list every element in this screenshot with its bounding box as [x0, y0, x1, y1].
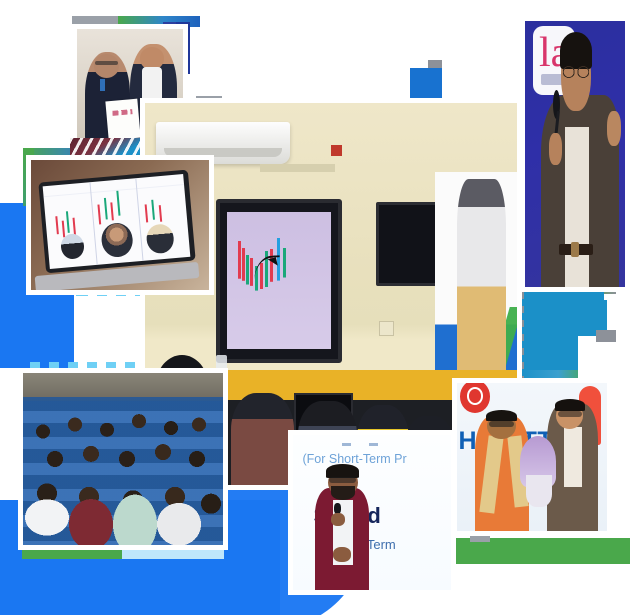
bouquet-wrapping [526, 475, 552, 508]
speaker-glasses [563, 64, 589, 80]
deco-gray-chip-right [596, 330, 616, 342]
photo-stage-speaker: la [520, 16, 630, 292]
speaker-hand-mic [549, 133, 562, 165]
award-recipient-hair [486, 410, 518, 422]
duo-lanyard [100, 79, 104, 90]
laptop-screen [43, 173, 190, 269]
speaker-shirt [565, 127, 589, 287]
laptop-body [38, 169, 195, 273]
photo-laptop-webinar-image [31, 160, 209, 290]
audience-front-row [23, 373, 223, 545]
presenter-hand-lower [333, 547, 352, 563]
wall-socket [379, 321, 394, 336]
wall-avatar-illustration [457, 179, 505, 378]
wall-mount [260, 164, 334, 172]
photo-audience-image [23, 373, 223, 545]
photo-presenter-slide: (For Short-Term Pr S Trad -Term [288, 430, 456, 595]
presenter-hand-mic [331, 513, 345, 527]
presenter-beard [331, 486, 355, 500]
slide-dash-1 [342, 443, 351, 446]
award-presenter-hair [555, 399, 585, 411]
photo-laptop-webinar [26, 155, 214, 295]
presenter-glasses [329, 477, 356, 483]
seated-student-1 [231, 393, 294, 485]
duo-glasses-left [95, 61, 118, 66]
photo-collage: la (For Short-Term Pr [0, 0, 630, 615]
deco-blue-square-top-right [410, 68, 442, 98]
speaker-belt-buckle [571, 242, 579, 257]
photo-award-image: H DUTT [457, 383, 607, 531]
duo-certificate [105, 98, 140, 139]
photo-presenter-slide-image: (For Short-Term Pr S Trad -Term [293, 435, 451, 590]
award-presenter-glasses [558, 411, 582, 417]
smart-board-screen [227, 212, 331, 350]
photo-audience [18, 368, 228, 550]
slide-subtitle: (For Short-Term Pr [302, 452, 406, 466]
photo-award: H DUTT [452, 378, 612, 536]
backdrop-badge [460, 383, 490, 413]
slide-dash-2 [369, 443, 378, 446]
smart-board [216, 199, 342, 363]
award-recipient-glasses [489, 421, 515, 427]
photo-stage-speaker-image: la [525, 21, 625, 287]
award-presenter-shirt [564, 427, 582, 486]
speaker-hand-gesture [607, 111, 621, 146]
wall-socket-top [331, 145, 342, 156]
